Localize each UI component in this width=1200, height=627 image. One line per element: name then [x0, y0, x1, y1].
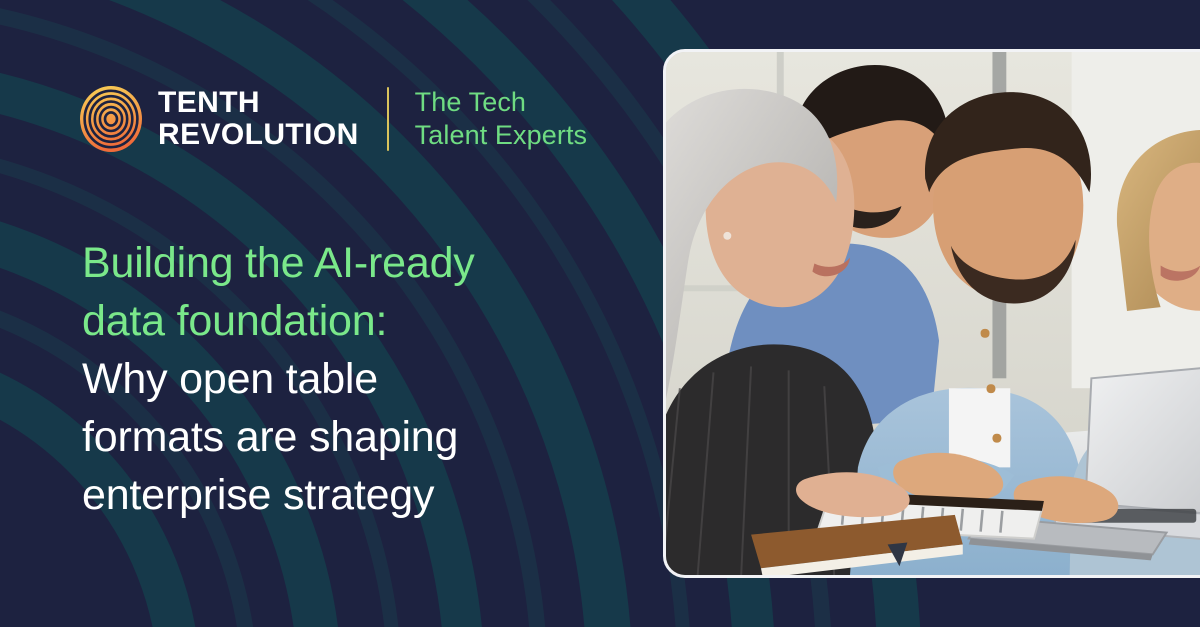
brand-tagline: The Tech Talent Experts	[415, 86, 587, 152]
headline-line: Building the AI-ready	[82, 234, 622, 292]
page-title: Building the AI-ready data foundation: W…	[82, 234, 622, 524]
wordmark-line-1: TENTH	[158, 87, 359, 119]
headline-line: formats are shaping	[82, 408, 622, 466]
tenth-revolution-spiral-mark-icon	[80, 86, 142, 152]
team-collaboration-photo	[666, 52, 1200, 575]
tagline-line-1: The Tech	[415, 86, 587, 119]
lockup-divider	[387, 87, 389, 151]
wordmark-line-2: REVOLUTION	[158, 119, 359, 151]
hero-photo-card	[663, 49, 1200, 578]
marketing-banner: TENTH REVOLUTION The Tech Talent Experts…	[0, 0, 1200, 627]
left-content-column: TENTH REVOLUTION The Tech Talent Experts…	[0, 0, 660, 627]
brand-wordmark: TENTH REVOLUTION	[158, 87, 359, 151]
headline-line: enterprise strategy	[82, 466, 622, 524]
brand-lockup[interactable]: TENTH REVOLUTION The Tech Talent Experts	[80, 86, 587, 152]
tagline-line-2: Talent Experts	[415, 119, 587, 152]
headline-line: data foundation:	[82, 292, 622, 350]
headline-line: Why open table	[82, 350, 622, 408]
